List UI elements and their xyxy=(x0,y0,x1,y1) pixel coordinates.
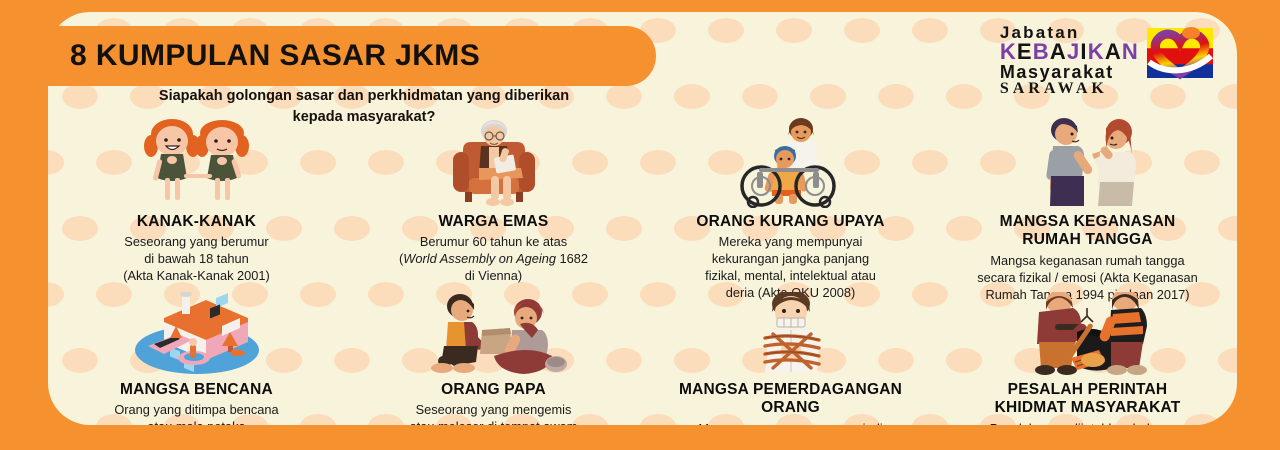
jkms-logo: Jabatan KEBAJIKAN Masyarakat SARAWAK xyxy=(1000,18,1219,97)
desc-line: Mangsa keganasan rumah tangga xyxy=(977,252,1198,269)
logo-text: Jabatan KEBAJIKAN Masyarakat SARAWAK xyxy=(1000,18,1139,97)
page-title: 8 KUMPULAN SASAR JKMS xyxy=(70,39,480,73)
desc-line: atau meleser di tempat awam xyxy=(406,418,582,425)
card-title-line-2: KHIDMAT MASYARAKAT xyxy=(995,399,1181,417)
card-description: Seseorang yang mengemis atau meleser di … xyxy=(406,401,582,425)
card-description: Berumur 60 tahun ke atas (World Assembly… xyxy=(399,233,588,284)
card-warga-emas[interactable]: WARGA EMAS Berumur 60 tahun ke atas (Wor… xyxy=(345,116,642,303)
card-title-line-2: ORANG xyxy=(679,399,902,417)
title-banner: 8 KUMPULAN SASAR JKMS xyxy=(48,26,656,86)
bound-person-icon xyxy=(737,284,845,376)
desc-line: atau mala petaka xyxy=(114,418,278,425)
subtitle: Siapakah golongan sasar dan perkhidmatan… xyxy=(74,86,654,128)
card-title: PESALAH PERINTAH KHIDMAT MASYARAKAT xyxy=(995,381,1181,418)
desc-line: Pesalah yang dijatuhkan hukuman xyxy=(989,420,1185,425)
logo-line-masyarakat: Masyarakat xyxy=(1000,63,1139,81)
citation-year: 1682 xyxy=(556,251,588,266)
desc-line: Orang yang ditimpa bencana xyxy=(114,401,278,418)
card-title: MANGSA KEGANASAN RUMAH TANGGA xyxy=(1000,213,1176,250)
card-title: ORANG PAPA xyxy=(441,381,546,399)
desc-line: Seseorang yang berumur xyxy=(123,233,270,250)
card-title-line-2: RUMAH TANGGA xyxy=(1000,231,1176,249)
desc-line: Mereka yang mempunyai xyxy=(705,233,876,250)
card-mangsa-bencana[interactable]: MANGSA BENCANA Orang yang ditimpa bencan… xyxy=(48,284,345,425)
community-service-icon xyxy=(1015,284,1161,376)
logo-line-sarawak: SARAWAK xyxy=(1000,81,1139,97)
card-orang-papa[interactable]: ORANG PAPA Seseorang yang mengemis atau … xyxy=(345,284,642,425)
card-description: Mana-mana orang yang menjadi mangsa atau… xyxy=(676,420,904,425)
card-mangsa-keganasan-rumah-tangga[interactable]: MANGSA KEGANASAN RUMAH TANGGA Mangsa keg… xyxy=(939,116,1236,303)
logo-line-kebajikan: KEBAJIKAN xyxy=(1000,41,1139,63)
card-description: Orang yang ditimpa bencana atau mala pet… xyxy=(114,401,278,425)
subtitle-line-1: Siapakah golongan sasar dan perkhidmatan… xyxy=(74,86,654,107)
card-mangsa-pemerdagangan-orang[interactable]: MANGSA PEMERDAGANGAN ORANG Mana-mana ora… xyxy=(642,284,939,425)
card-row-top: KANAK-KANAK Seseorang yang berumur di ba… xyxy=(48,116,1237,303)
card-title: MANGSA BENCANA xyxy=(120,381,273,399)
card-row-bottom: MANGSA BENCANA Orang yang ditimpa bencan… xyxy=(48,284,1237,425)
desc-line: fizikal, mental, intelektual atau xyxy=(705,267,876,284)
card-pesalah-perintah-khidmat-masyarakat[interactable]: PESALAH PERINTAH KHIDMAT MASYARAKAT Pesa… xyxy=(939,284,1236,425)
flooded-house-icon xyxy=(122,284,272,376)
desc-line: (World Assembly on Ageing 1682 xyxy=(399,250,588,267)
card-description: Pesalah yang dijatuhkan hukuman berumur … xyxy=(989,420,1185,425)
card-title-line-1: MANGSA KEGANASAN xyxy=(1000,213,1176,231)
subtitle-line-2: kepada masyarakat? xyxy=(74,107,654,128)
card-title: WARGA EMAS xyxy=(439,213,549,231)
infographic-panel: 8 KUMPULAN SASAR JKMS Siapakah golongan … xyxy=(48,12,1237,425)
desc-line: di Vienna) xyxy=(399,267,588,284)
desc-line: Mana-mana orang yang menjadi xyxy=(676,420,904,425)
domestic-violence-icon xyxy=(1026,116,1150,208)
desc-line: Seseorang yang mengemis xyxy=(406,401,582,418)
desc-line: di bawah 18 tahun xyxy=(123,250,270,267)
card-title: ORANG KURANG UPAYA xyxy=(696,213,884,231)
italic-citation: World Assembly on Ageing xyxy=(403,251,556,266)
card-description: Seseorang yang berumur di bawah 18 tahun… xyxy=(123,233,270,284)
desc-line: (Akta Kanak-Kanak 2001) xyxy=(123,267,270,284)
card-kanak-kanak[interactable]: KANAK-KANAK Seseorang yang berumur di ba… xyxy=(48,116,345,303)
card-title-line-1: MANGSA PEMERDAGANGAN xyxy=(679,381,902,399)
card-title-line-1: PESALAH PERINTAH xyxy=(995,381,1181,399)
homeless-aid-icon xyxy=(420,284,568,376)
heart-emblem-icon xyxy=(1141,22,1219,84)
card-orang-kurang-upaya[interactable]: ORANG KURANG UPAYA Mereka yang mempunyai… xyxy=(642,116,939,303)
card-title: KANAK-KANAK xyxy=(137,213,256,231)
elderly-woman-armchair-icon xyxy=(435,116,553,208)
desc-line: kekurangan jangka panjang xyxy=(705,250,876,267)
card-title: MANGSA PEMERDAGANGAN ORANG xyxy=(679,381,902,418)
wheelchair-person-icon xyxy=(735,116,847,208)
two-children-icon xyxy=(134,116,260,208)
desc-line: Berumur 60 tahun ke atas xyxy=(399,233,588,250)
